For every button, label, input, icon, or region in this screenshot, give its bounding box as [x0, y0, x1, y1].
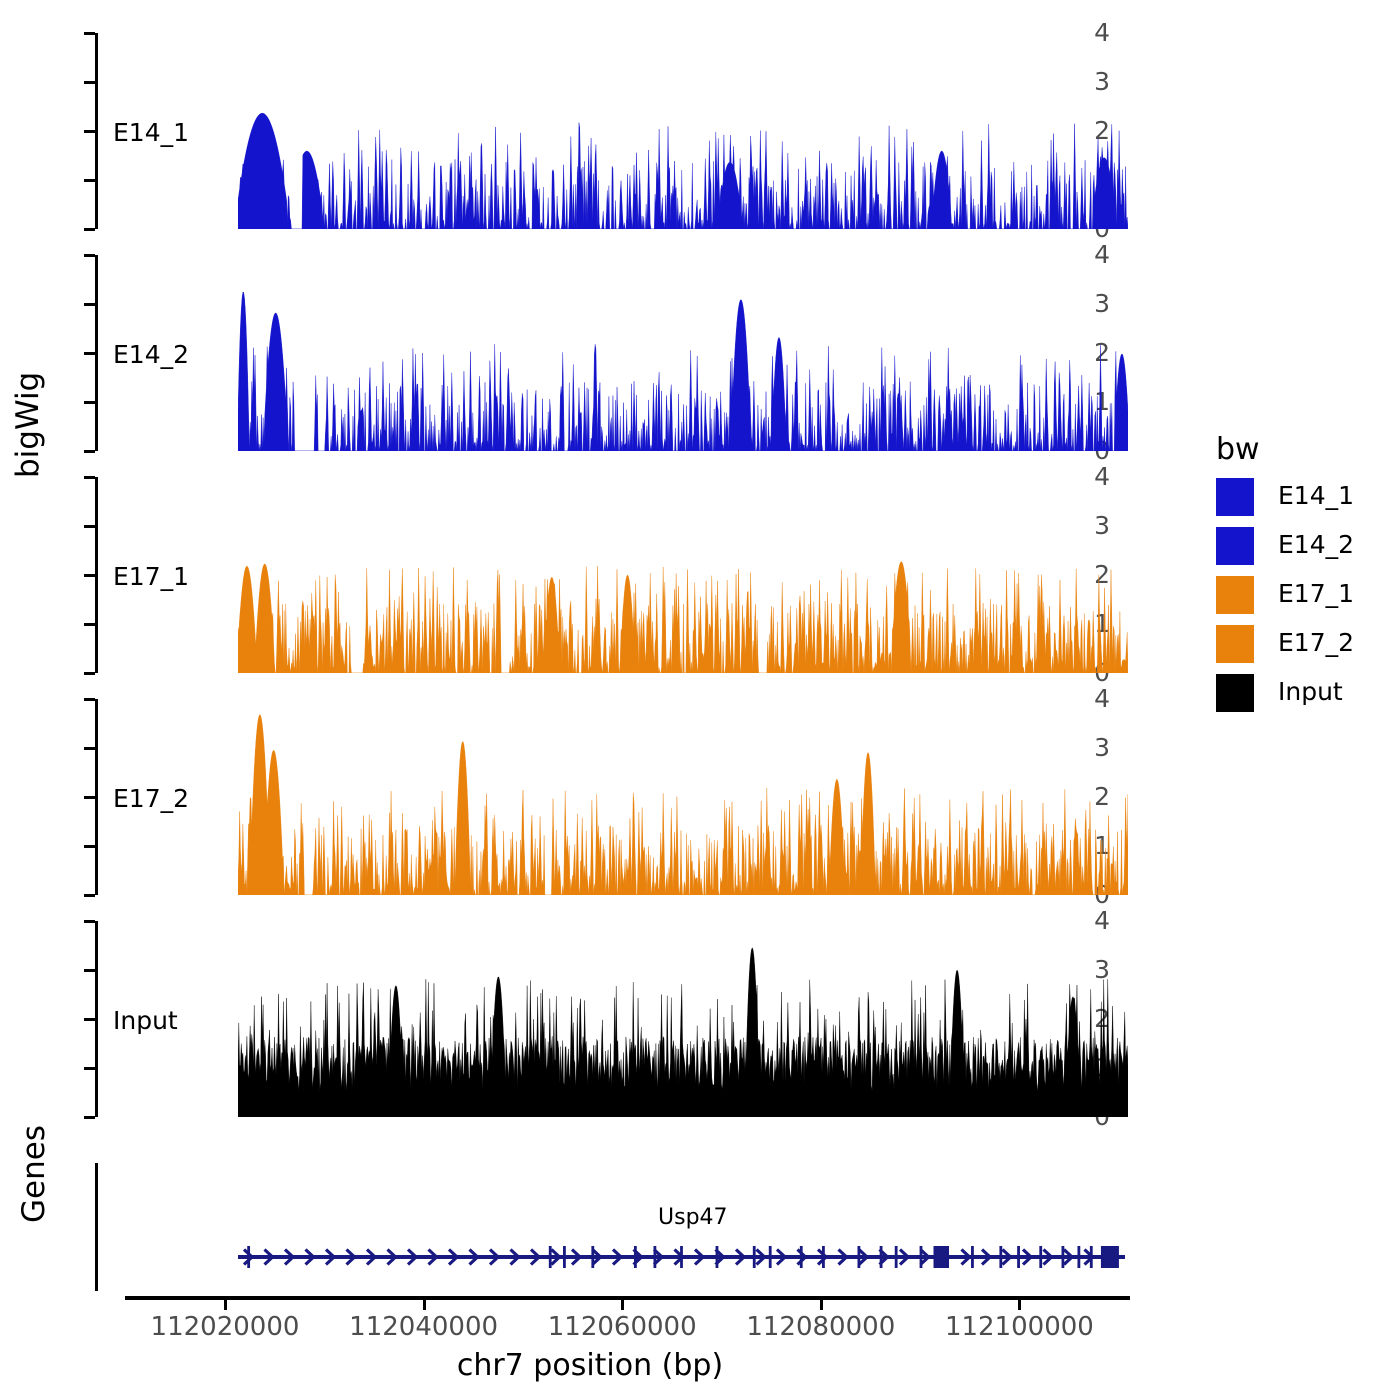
y-tick-mark	[84, 672, 95, 675]
genes-axis-title: Genes	[16, 1183, 52, 1223]
signal-track-e14_2	[238, 255, 1128, 451]
y-tick-mark	[84, 476, 95, 479]
y-tick-mark	[84, 254, 95, 257]
legend-item-e17_2[interactable]: E17_2	[1216, 625, 1396, 663]
signal-track-e17_1	[238, 477, 1128, 673]
x-axis-title: chr7 position (bp)	[0, 1348, 1180, 1383]
legend-label: E17_2	[1278, 628, 1354, 657]
signal-track-e14_1	[238, 33, 1128, 229]
legend-swatch	[1216, 576, 1254, 614]
plot-root: bigWig Genes 01234E14_101234E14_201234E1…	[0, 0, 1400, 1400]
signal-track-input	[238, 921, 1128, 1117]
track-panel-input: 01234Input	[95, 921, 1130, 1117]
gene-glyph-usp47[interactable]	[238, 1240, 1125, 1278]
y-tick-mark	[84, 450, 95, 453]
legend-label: E17_1	[1278, 579, 1354, 608]
legend-swatch	[1216, 478, 1254, 516]
signal-track-e17_2	[238, 699, 1128, 895]
legend-swatch	[1216, 527, 1254, 565]
track-label-e14_2: E14_2	[113, 340, 189, 369]
y-tick-mark	[84, 920, 95, 923]
y-tick-mark	[84, 303, 95, 306]
y-tick-mark	[84, 352, 95, 355]
track-panel-e14_2: 01234E14_2	[95, 255, 1130, 451]
y-tick-mark	[84, 574, 95, 577]
y-tick-mark	[84, 130, 95, 133]
x-tick-label: 112020000	[151, 1312, 300, 1342]
legend-title: bw	[1216, 432, 1260, 467]
legend-label: E14_2	[1278, 530, 1354, 559]
track-label-e14_1: E14_1	[113, 118, 189, 147]
y-tick-mark	[84, 698, 95, 701]
y-tick-mark	[84, 1067, 95, 1070]
y-tick-mark	[84, 401, 95, 404]
y-tick-mark	[84, 1018, 95, 1021]
y-tick-mark	[84, 525, 95, 528]
track-panel-e17_2: 01234E17_2	[95, 699, 1130, 895]
gene-label-usp47: Usp47	[658, 1205, 728, 1230]
track-label-e17_2: E17_2	[113, 784, 189, 813]
legend-item-e14_1[interactable]: E14_1	[1216, 478, 1396, 516]
y-tick-mark	[84, 623, 95, 626]
legend-item-e17_1[interactable]: E17_1	[1216, 576, 1396, 614]
x-tick-label: 112100000	[945, 1312, 1094, 1342]
legend-label: E14_1	[1278, 481, 1354, 510]
y-axis-title: bigWig	[10, 438, 46, 478]
y-tick-mark	[84, 179, 95, 182]
y-axis-line	[95, 255, 98, 451]
x-tick-mark	[224, 1300, 227, 1310]
track-panel-e17_1: 01234E17_1	[95, 477, 1130, 673]
y-axis-line	[95, 699, 98, 895]
x-tick-mark	[1018, 1300, 1021, 1310]
x-axis-line	[125, 1296, 1130, 1300]
x-tick-label: 112080000	[746, 1312, 895, 1342]
y-tick-mark	[84, 894, 95, 897]
x-tick-mark	[621, 1300, 624, 1310]
legend-swatch	[1216, 674, 1254, 712]
genes-axis-line	[95, 1163, 98, 1291]
track-label-e17_1: E17_1	[113, 562, 189, 591]
y-tick-mark	[84, 81, 95, 84]
y-axis-line	[95, 33, 98, 229]
legend-label: Input	[1278, 677, 1343, 706]
y-tick-mark	[84, 845, 95, 848]
y-axis-line	[95, 921, 98, 1117]
legend-item-input[interactable]: Input	[1216, 674, 1396, 712]
x-tick-label: 112040000	[349, 1312, 498, 1342]
y-tick-mark	[84, 1116, 95, 1119]
y-axis-line	[95, 477, 98, 673]
x-tick-mark	[820, 1300, 823, 1310]
x-tick-label: 112060000	[548, 1312, 697, 1342]
x-tick-mark	[423, 1300, 426, 1310]
track-label-input: Input	[113, 1006, 178, 1035]
y-tick-mark	[84, 969, 95, 972]
y-tick-mark	[84, 228, 95, 231]
y-tick-mark	[84, 747, 95, 750]
track-panel-e14_1: 01234E14_1	[95, 33, 1130, 229]
legend-item-e14_2[interactable]: E14_2	[1216, 527, 1396, 565]
legend-swatch	[1216, 625, 1254, 663]
y-tick-mark	[84, 796, 95, 799]
y-tick-mark	[84, 32, 95, 35]
